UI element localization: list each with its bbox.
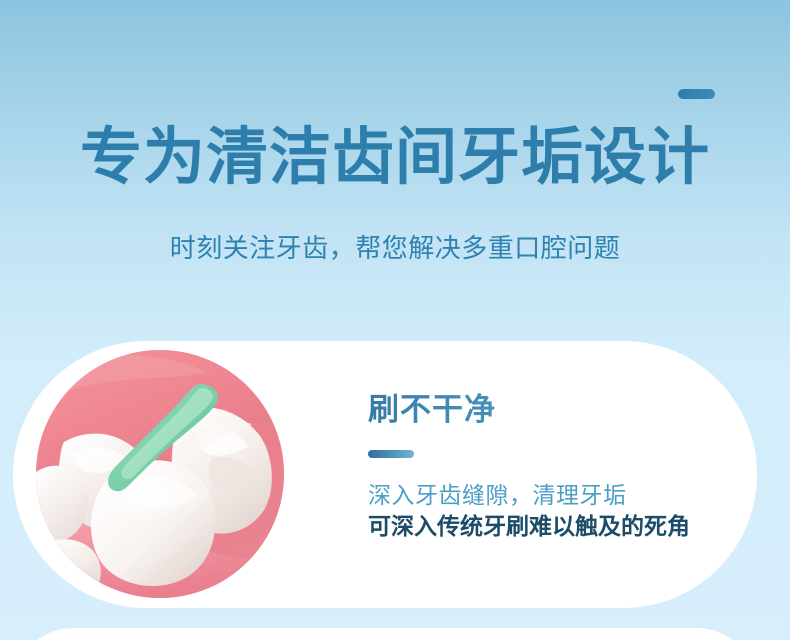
feature-card-secondary (13, 628, 757, 640)
feature-card-heading: 刷不干净 (368, 390, 728, 430)
promo-page: 专为清洁齿间牙垢设计 时刻关注牙齿，帮您解决多重口腔问题 (0, 0, 790, 640)
accent-dash-icon (678, 89, 715, 99)
page-title: 专为清洁齿间牙垢设计 (0, 122, 790, 194)
feature-card-text: 刷不干净 深入牙齿缝隙，清理牙垢 可深入传统牙刷难以触及的死角 (368, 390, 728, 541)
feature-card-line-2: 可深入传统牙刷难以触及的死角 (368, 511, 728, 541)
page-subtitle: 时刻关注牙齿，帮您解决多重口腔问题 (0, 231, 790, 265)
feature-card-divider (368, 450, 414, 458)
teeth-illustration (36, 350, 284, 598)
feature-card-line-1: 深入牙齿缝隙，清理牙垢 (368, 480, 728, 510)
